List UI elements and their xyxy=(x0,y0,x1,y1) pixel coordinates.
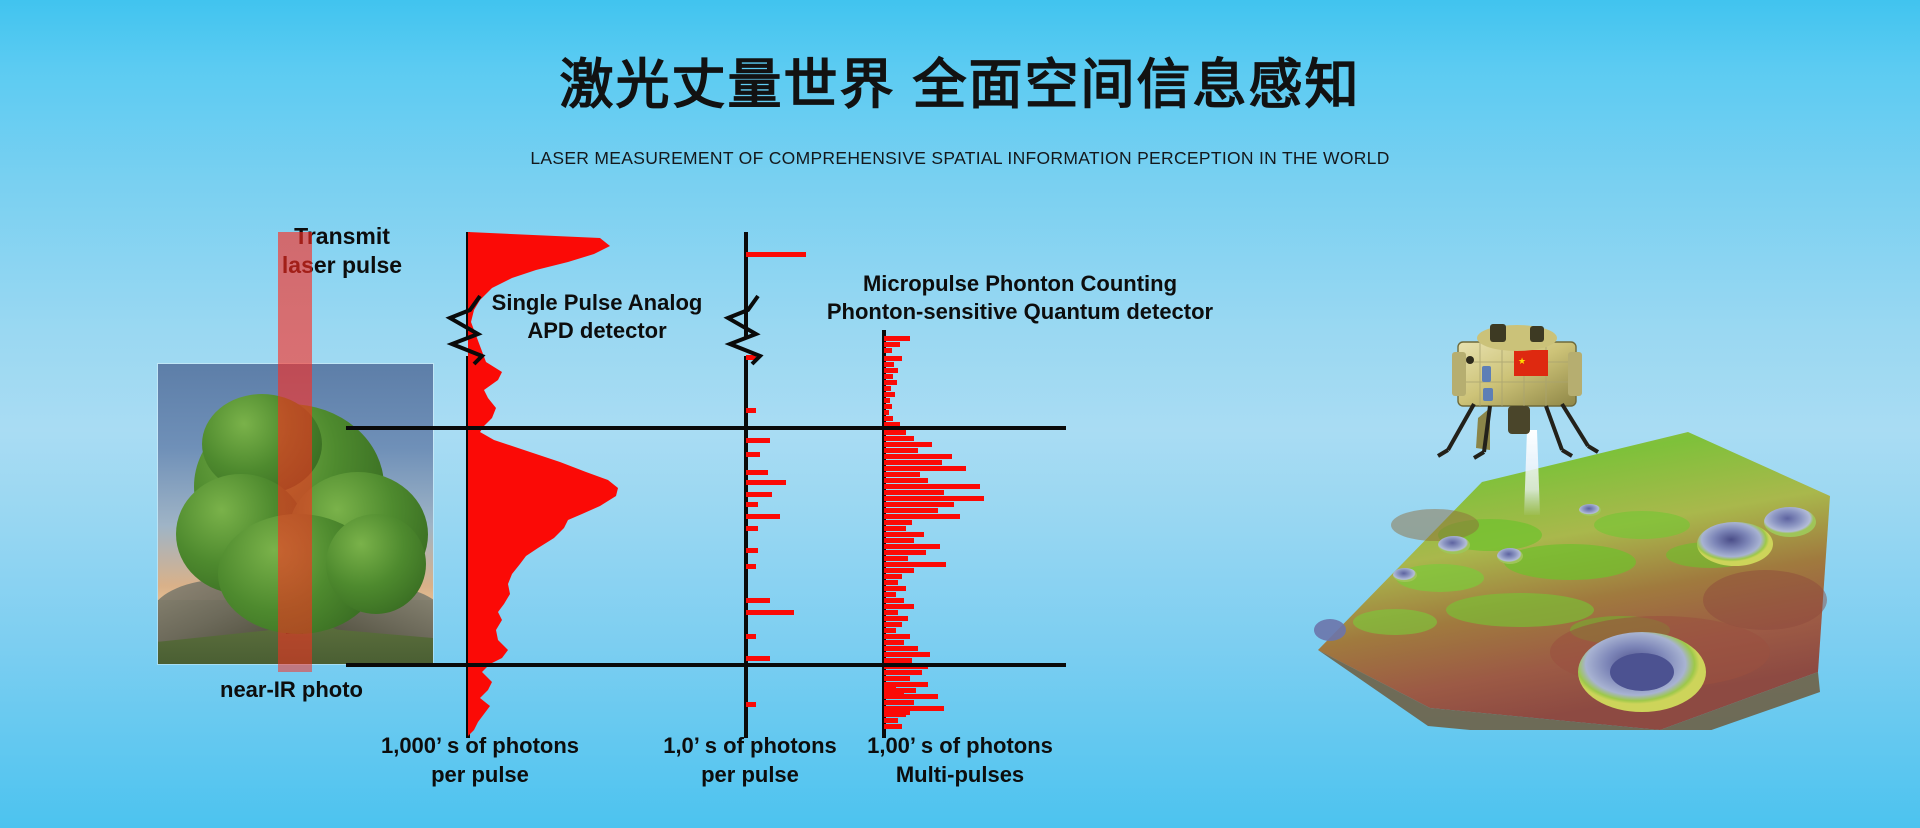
lunar-terrain-3d: ★ xyxy=(1190,300,1830,730)
photon-count-bar xyxy=(884,574,902,579)
photon-count-bar xyxy=(884,490,944,495)
terrain-crater xyxy=(1393,568,1417,582)
terrain-crater xyxy=(1579,504,1601,516)
photon-count-bar xyxy=(746,564,756,569)
photon-count-bar xyxy=(884,454,952,459)
photon-count-bar xyxy=(746,438,770,443)
chang-e-lander: ★ xyxy=(1438,324,1598,458)
photon-count-bar xyxy=(884,386,891,391)
photon-count-bar xyxy=(746,598,770,603)
single-photon-axis-break-icon xyxy=(720,294,766,366)
photon-count-bar xyxy=(884,684,895,689)
photon-count-bar xyxy=(884,336,910,341)
photon-count-bar xyxy=(746,408,756,413)
photon-count-bar xyxy=(884,628,896,633)
photon-count-bar xyxy=(884,616,908,621)
photon-count-bar xyxy=(884,356,902,361)
photon-count-bar xyxy=(884,436,914,441)
photon-count-bar xyxy=(884,526,906,531)
page-title: 激光丈量世界 全面空间信息感知 xyxy=(0,54,1920,116)
photon-count-bar xyxy=(884,676,902,681)
transmit-laser-pulse-label: Transmit laser pulse xyxy=(232,222,452,281)
photon-count-bar xyxy=(746,470,768,475)
photon-count-bar xyxy=(884,580,898,585)
photon-count-bar xyxy=(884,568,914,573)
photon-count-bar xyxy=(884,342,900,347)
terrain-crater xyxy=(1438,536,1470,554)
photon-count-bar xyxy=(884,652,930,657)
terrain-crater xyxy=(1764,507,1816,537)
photon-count-bar xyxy=(746,502,758,507)
photon-count-bar xyxy=(884,472,920,477)
photon-count-bar xyxy=(884,520,912,525)
photon-count-bar xyxy=(884,460,942,465)
photon-count-bar xyxy=(884,416,893,421)
photon-count-bar xyxy=(884,398,890,403)
photon-count-bar xyxy=(746,252,806,257)
analog-axis-break-icon xyxy=(442,294,488,366)
photon-count-bar xyxy=(746,656,770,661)
svg-text:★: ★ xyxy=(1518,356,1526,366)
photon-count-bar xyxy=(884,502,954,507)
photon-count-bar xyxy=(746,548,758,553)
photon-count-bar xyxy=(884,718,898,723)
photon-count-bar xyxy=(884,532,924,537)
photon-count-bar xyxy=(884,646,918,651)
photon-count-bar xyxy=(884,556,908,561)
photon-count-bar xyxy=(884,496,984,501)
photon-count-bar xyxy=(884,380,897,385)
analog-waveform-area xyxy=(468,232,618,736)
photo-tree-canopy xyxy=(326,514,426,614)
photon-count-bar xyxy=(884,538,914,543)
photon-count-bar xyxy=(884,692,904,697)
photon-count-bar xyxy=(884,392,895,397)
photon-count-bar xyxy=(884,442,932,447)
photon-count-bar xyxy=(884,724,902,729)
terrain-crater xyxy=(1610,653,1674,691)
micropulse-bars xyxy=(884,328,1074,758)
photon-count-bar xyxy=(884,508,938,513)
photon-count-bar xyxy=(884,430,906,435)
photon-count-bar xyxy=(884,592,896,597)
photon-count-bar xyxy=(884,700,893,705)
photon-count-bar xyxy=(884,514,960,519)
photon-count-bar xyxy=(884,348,892,353)
photon-count-bar xyxy=(884,466,966,471)
photon-count-bar xyxy=(884,710,910,715)
reference-line-ground xyxy=(346,663,1066,667)
terrain-crater xyxy=(1497,548,1523,564)
photon-count-bar xyxy=(746,492,772,497)
photon-count-bar xyxy=(884,544,940,549)
photon-count-bar xyxy=(884,550,926,555)
photon-count-bar xyxy=(884,374,893,379)
page-subtitle: LASER MEASUREMENT OF COMPREHENSIVE SPATI… xyxy=(0,148,1920,169)
photon-count-bar xyxy=(884,484,980,489)
photon-count-bar xyxy=(884,622,902,627)
photon-count-bar xyxy=(746,634,756,639)
near-ir-photo-label: near-IR photo xyxy=(220,676,470,704)
terrain-crater xyxy=(1697,522,1773,566)
photon-count-bar xyxy=(884,670,922,675)
photon-count-bar xyxy=(746,610,794,615)
photon-count-bar xyxy=(884,610,898,615)
photon-count-bar xyxy=(884,478,928,483)
photon-count-bar xyxy=(746,702,756,707)
photon-count-bar xyxy=(746,480,786,485)
photon-count-bar xyxy=(884,448,918,453)
reference-line-canopy-top xyxy=(346,426,1066,430)
photon-count-bar xyxy=(884,604,914,609)
transmit-laser-beam xyxy=(278,232,312,672)
analog-waveform xyxy=(468,228,648,748)
lander-descent-beam xyxy=(1524,430,1540,515)
photon-count-bar xyxy=(746,452,760,457)
lander-engine xyxy=(1508,406,1530,434)
photon-count-bar xyxy=(884,640,904,645)
photon-count-bar xyxy=(884,634,910,639)
single-photon-bars xyxy=(746,228,896,748)
photon-count-bar xyxy=(884,562,946,567)
photon-count-bar xyxy=(884,586,906,591)
photon-count-bar xyxy=(746,514,780,519)
photon-count-bar xyxy=(884,404,892,409)
photon-count-bar xyxy=(884,368,898,373)
terrain-crater xyxy=(1314,619,1346,641)
photon-count-bar xyxy=(884,362,894,367)
poster-canvas: 激光丈量世界 全面空间信息感知 LASER MEASUREMENT OF COM… xyxy=(0,0,1920,828)
photon-count-bar xyxy=(746,526,758,531)
photon-count-bar xyxy=(884,598,904,603)
photon-count-bar xyxy=(884,410,889,415)
